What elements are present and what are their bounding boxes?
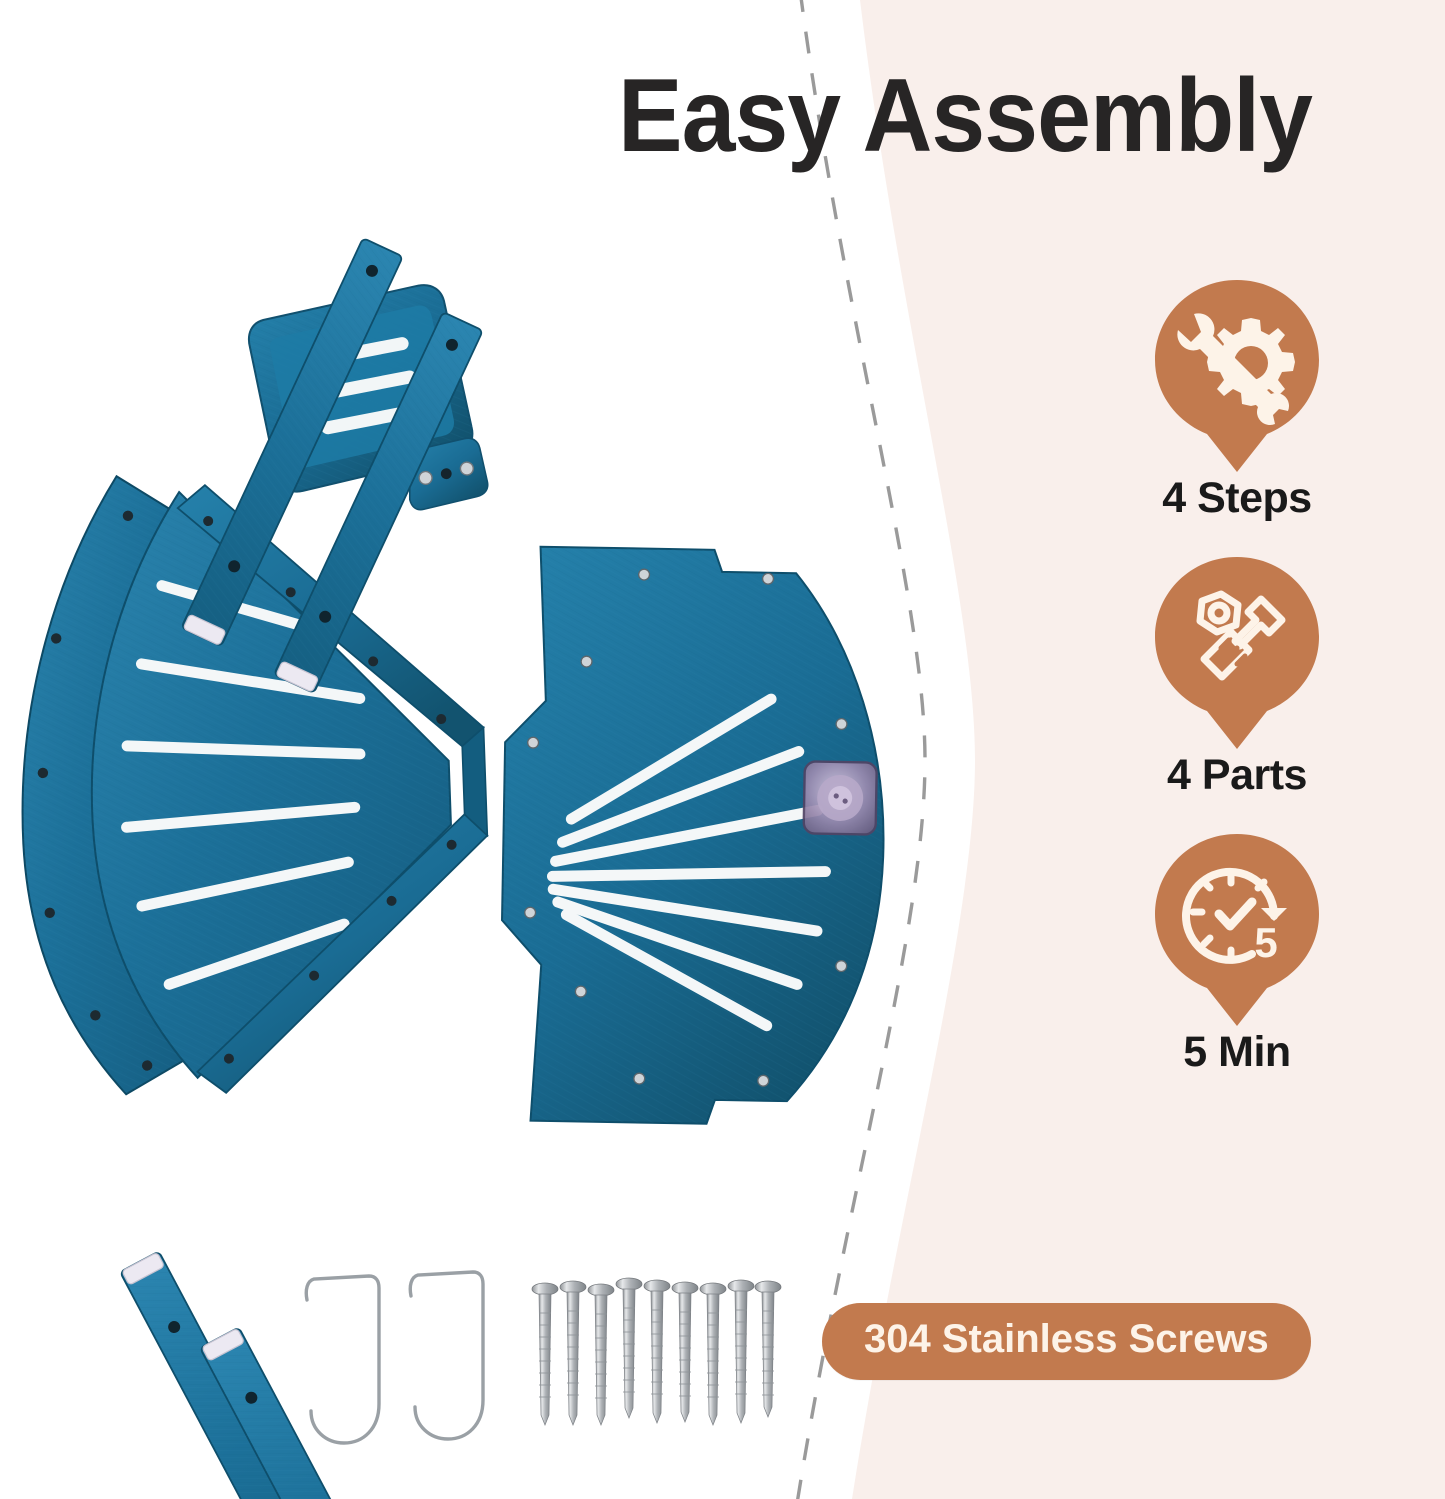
product-parts-photo <box>0 0 1010 1499</box>
stainless-screws-badge: 304 Stainless Screws <box>822 1303 1311 1380</box>
feature-label-steps: 4 Steps <box>1162 476 1311 521</box>
part-wire-hook-1 <box>306 1276 379 1443</box>
feature-list: 4 Steps 4 Parts <box>1092 278 1382 1075</box>
page-title: Easy Assembly <box>618 57 1312 176</box>
part-fan-shelf-right <box>499 546 889 1127</box>
feature-item-steps: 4 Steps <box>1153 278 1321 521</box>
part-wire-hook-2 <box>410 1272 483 1439</box>
screw-set <box>532 1278 781 1425</box>
feature-item-parts: 4 Parts <box>1153 555 1321 798</box>
screw <box>532 1283 558 1425</box>
screw <box>755 1281 781 1417</box>
screw <box>644 1280 670 1423</box>
feature-item-time: 5 5 Min <box>1153 832 1321 1075</box>
screw <box>672 1282 698 1422</box>
screw <box>588 1284 614 1425</box>
screw <box>560 1281 586 1425</box>
gear-wrench-icon <box>1153 278 1321 474</box>
part-mount-knob <box>804 761 877 834</box>
nut-bolt-icon <box>1153 555 1321 751</box>
clock-check-icon: 5 <box>1153 832 1321 1028</box>
feature-label-time: 5 Min <box>1183 1030 1290 1075</box>
feature-label-parts: 4 Parts <box>1167 753 1307 798</box>
clock-badge-number: 5 <box>1254 919 1277 966</box>
screw <box>616 1278 642 1418</box>
screw <box>700 1283 726 1425</box>
screw <box>728 1280 754 1423</box>
